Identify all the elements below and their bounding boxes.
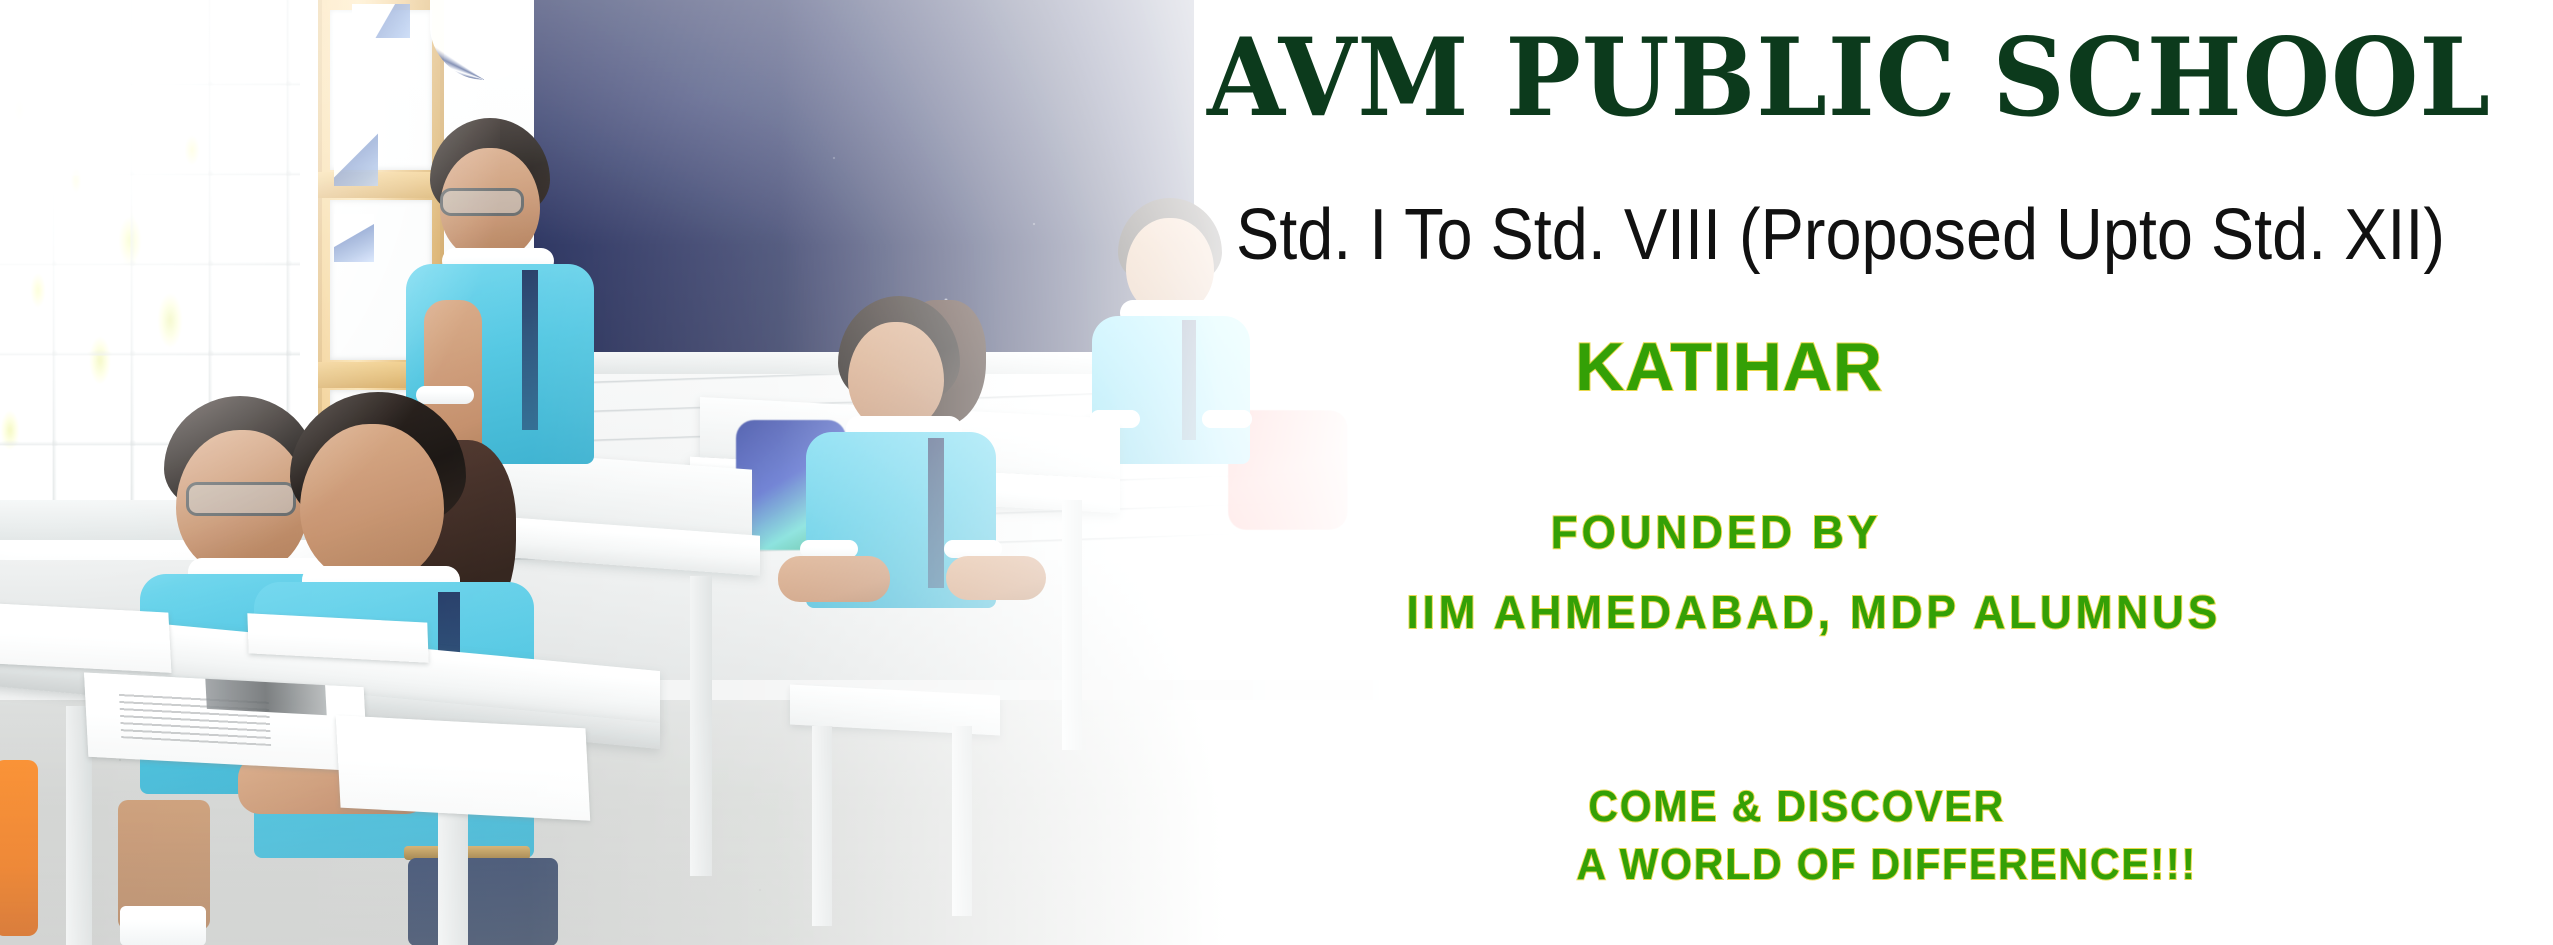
grades-subtitle: Std. I To Std. VIII (Proposed Upto Std. … [245,198,2446,274]
tagline-line-2: A WORLD OF DIFFERENCE!!! [154,842,2197,888]
tagline-line-1: COME & DISCOVER [140,784,2005,830]
school-banner: AVM PUBLIC SCHOOL Std. I To Std. VIII (P… [0,0,2553,945]
city-label: KATIHAR [0,332,1883,403]
founder-credential: IIM AHMEDABAD, MDP ALUMNUS [89,588,2221,636]
banner-text-layer: AVM PUBLIC SCHOOL Std. I To Std. VIII (P… [0,0,2553,945]
founded-by-label: FOUNDED BY [75,508,1881,556]
page-title: AVM PUBLIC SCHOOL [174,24,2491,132]
